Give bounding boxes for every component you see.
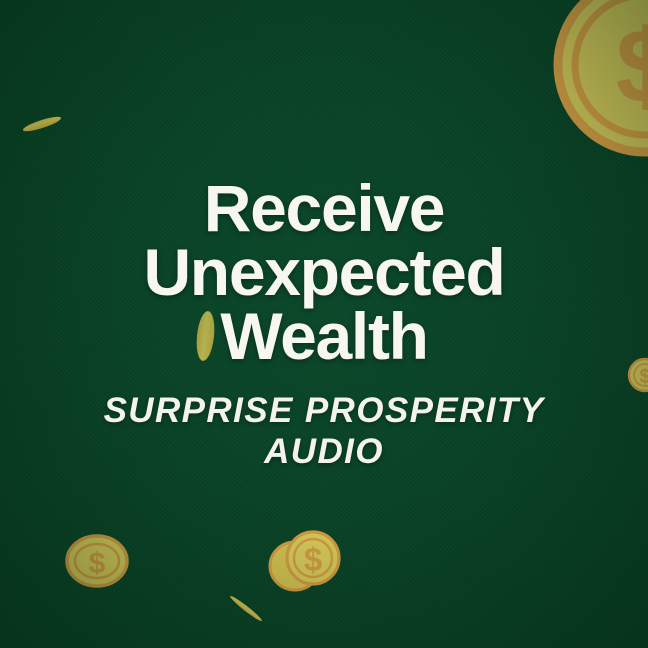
promo-graphic-canvas: $ $ $ $ Receive Unexp <box>0 0 648 648</box>
subtitle-line-1: SURPRISE PROSPERITY <box>0 390 648 431</box>
text-content-block: Receive Unexpected Wealth SURPRISE PROSP… <box>0 0 648 648</box>
subtitle-line-2: AUDIO <box>0 431 648 472</box>
page-subtitle: SURPRISE PROSPERITY AUDIO <box>0 390 648 472</box>
page-title: Receive Unexpected Wealth <box>0 0 648 368</box>
headline-line-1: Receive <box>0 176 648 240</box>
headline-line-3: Wealth <box>0 304 648 368</box>
headline-line-2: Unexpected <box>0 240 648 304</box>
